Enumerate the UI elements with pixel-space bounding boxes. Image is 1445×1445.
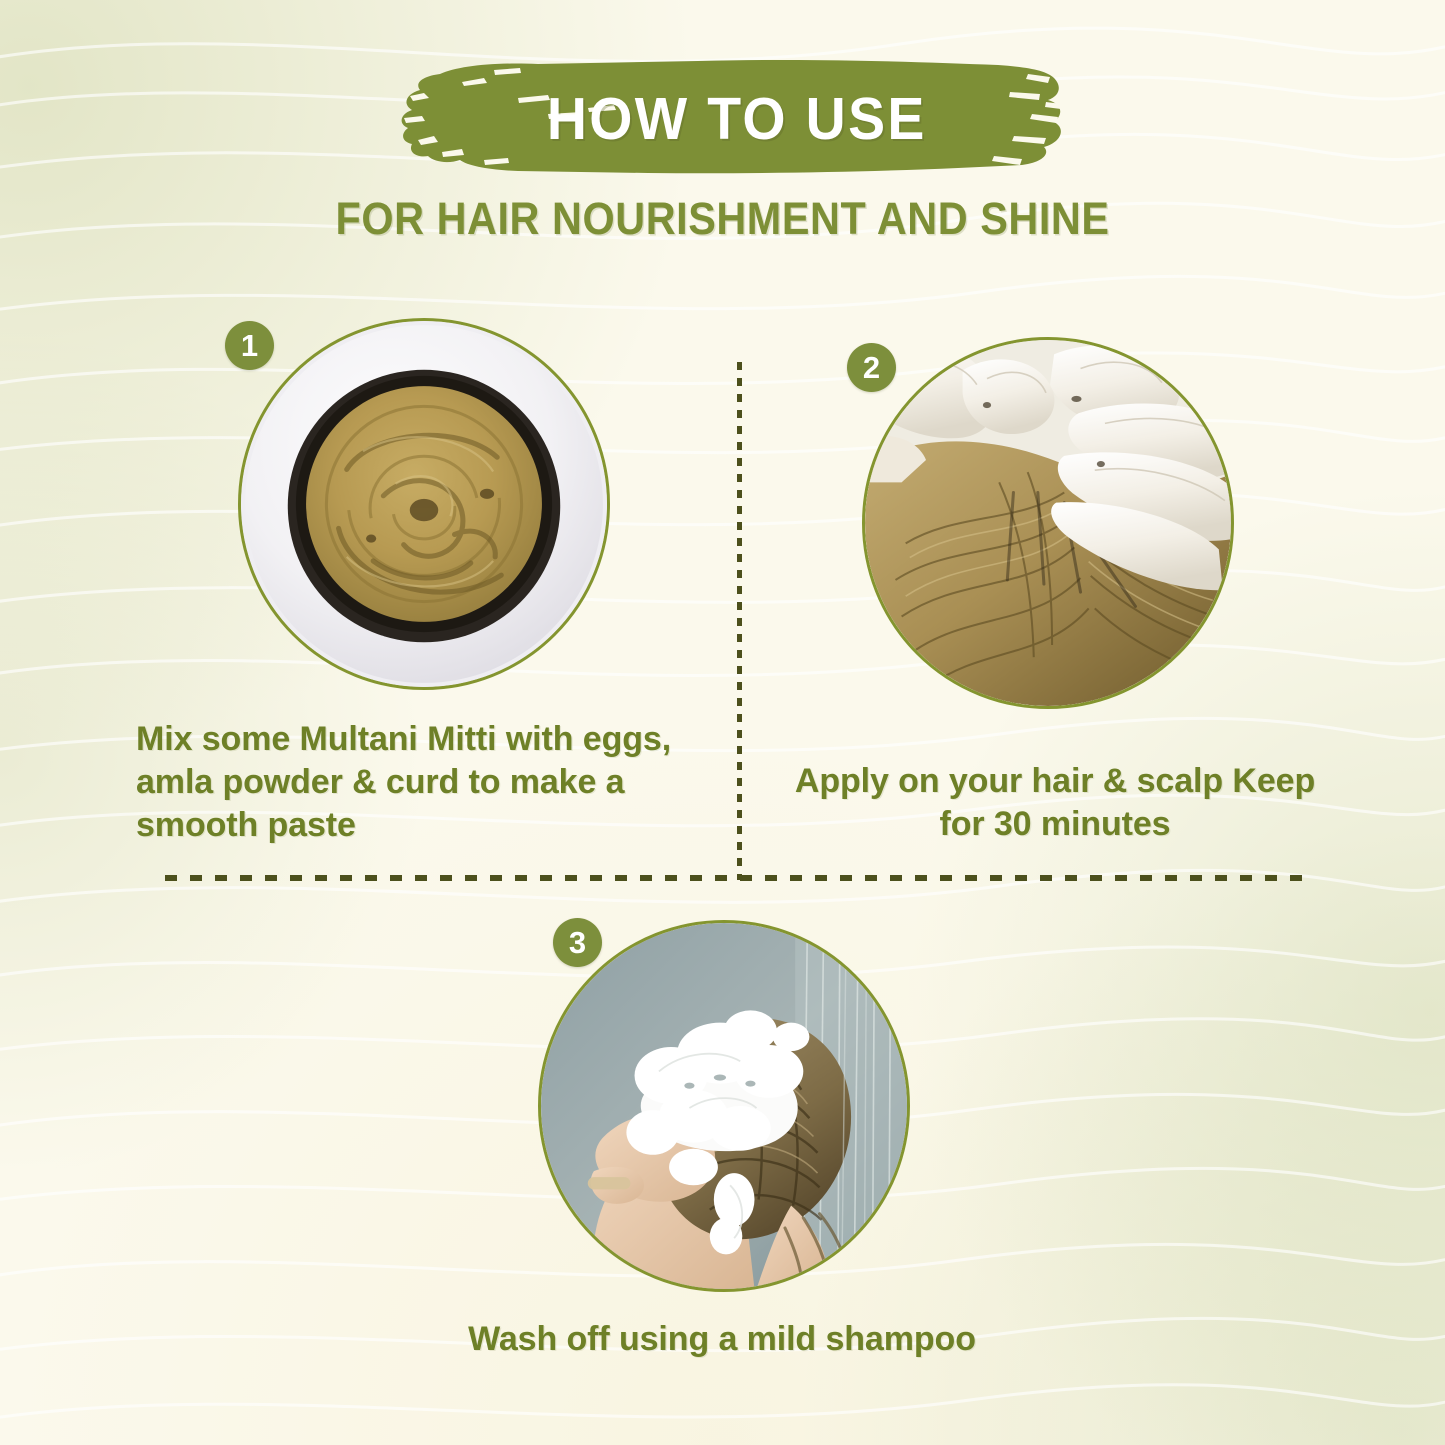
infographic-canvas: HOW TO USE FOR HAIR NOURISHMENT AND SHIN…	[0, 0, 1445, 1445]
page-title: HOW TO USE	[418, 52, 1050, 186]
step-3-caption: Wash off using a mild shampoo	[452, 1318, 992, 1361]
paste-bowl-illustration	[241, 321, 607, 687]
woman-washing-hair-with-shampoo-image	[541, 923, 907, 1289]
horizontal-dashed-divider	[165, 875, 1302, 881]
page-subtitle: FOR HAIR NOURISHMENT AND SHINE	[58, 193, 1387, 245]
step-3-number-badge: 3	[553, 918, 602, 967]
step-2-photo	[862, 337, 1234, 709]
step-3-photo	[538, 920, 910, 1292]
step-1-photo	[238, 318, 610, 690]
shampoo-wash-illustration	[541, 923, 907, 1289]
step-2-number-badge: 2	[847, 343, 896, 392]
bowl-of-multani-mitti-paste-image	[241, 321, 607, 687]
step-2-caption: Apply on your hair & scalp Keep for 30 m…	[790, 760, 1320, 846]
vertical-dashed-divider	[737, 362, 742, 880]
title-banner-brushstroke: HOW TO USE	[398, 52, 1070, 186]
step-1-caption: Mix some Multani Mitti with eggs, amla p…	[136, 718, 736, 848]
step-1-number-badge: 1	[225, 321, 274, 370]
hair-application-illustration	[865, 340, 1231, 706]
gloved-hands-applying-paste-to-hair-image	[865, 340, 1231, 706]
